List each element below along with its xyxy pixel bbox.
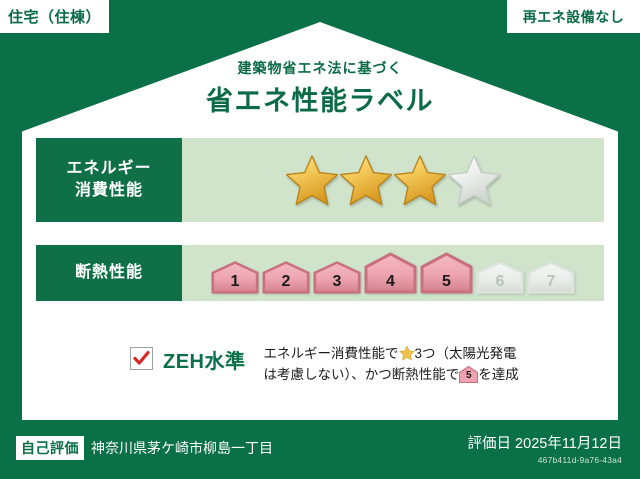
star-filled-icon: [340, 154, 392, 206]
footer-left-group: 自己評価 神奈川県茅ケ崎市柳島一丁目: [16, 436, 273, 460]
insulation-level-number: 7: [527, 273, 575, 291]
insulation-level-scale: 1234567: [211, 252, 575, 294]
row-energy-key-line1: エネルギー: [66, 158, 151, 180]
insulation-level-1: 1: [211, 261, 259, 294]
insulation-level-number: 3: [313, 273, 361, 291]
insulation-level-3: 3: [313, 261, 361, 294]
insulation-level-number: 2: [262, 273, 310, 291]
row-insulation-key: 断熱性能: [36, 245, 182, 301]
zeh-desc-part3: を達成: [478, 367, 519, 382]
zeh-section: ZEH水準 エネルギー消費性能で 3つ（太陽光発電 は考慮しない）、かつ断熱性能…: [130, 344, 519, 386]
row-insulation-value: 1234567: [182, 245, 604, 301]
inline-house-icon: 5: [459, 366, 478, 383]
insulation-level-6: 6: [476, 261, 524, 294]
star-rating: [286, 154, 500, 206]
insulation-level-number: 4: [364, 273, 417, 291]
insulation-level-number: 5: [420, 273, 473, 291]
star-filled-icon: [394, 154, 446, 206]
energy-performance-label: 住宅（住棟） 再エネ設備なし 建築物省エネ法に基づく 省エネ性能ラベル エネルギ…: [0, 0, 640, 479]
inline-star-icon: [399, 345, 415, 361]
badge-renewable-energy-label: 再エネ設備なし: [523, 7, 625, 27]
insulation-level-4: 4: [364, 252, 417, 294]
insulation-level-2: 2: [262, 261, 310, 294]
row-energy-consumption-key: エネルギー 消費性能: [36, 138, 182, 222]
zeh-desc-part1: エネルギー消費性能で: [264, 346, 399, 361]
footer-bar: 自己評価 神奈川県茅ケ崎市柳島一丁目 評価日 2025年11月12日 467b4…: [0, 422, 640, 479]
row-insulation-performance: 断熱性能 1234567: [36, 245, 604, 301]
row-energy-consumption: エネルギー 消費性能: [36, 138, 604, 222]
badge-building-type: 住宅（住棟）: [0, 0, 109, 33]
star-empty-icon: [448, 154, 500, 206]
row-insulation-key-line1: 断熱性能: [75, 262, 143, 284]
star-filled-icon: [286, 154, 338, 206]
inline-house-number: 5: [459, 369, 478, 383]
property-address: 神奈川県茅ケ崎市柳島一丁目: [91, 438, 273, 458]
row-energy-key-line2: 消費性能: [75, 180, 143, 202]
evaluation-date: 評価日 2025年11月12日: [468, 432, 622, 453]
zeh-desc-part2: は考慮しない）、かつ断熱性能で: [264, 367, 460, 382]
insulation-level-number: 1: [211, 273, 259, 291]
insulation-level-7: 7: [527, 261, 575, 294]
page-title: 省エネ性能ラベル: [0, 79, 640, 118]
footer-right-group: 評価日 2025年11月12日 467b411d-9a76-43a4: [468, 432, 622, 465]
check-icon: [132, 349, 151, 368]
evaluation-id: 467b411d-9a76-43a4: [468, 455, 622, 465]
title-subtitle: 建築物省エネ法に基づく: [0, 58, 640, 78]
zeh-description: エネルギー消費性能で 3つ（太陽光発電 は考慮しない）、かつ断熱性能で 5を達成: [264, 344, 519, 386]
insulation-level-5: 5: [420, 252, 473, 294]
zeh-label: ZEH水準: [163, 345, 246, 374]
self-evaluation-tag: 自己評価: [16, 436, 84, 460]
badge-renewable-energy: 再エネ設備なし: [507, 0, 640, 33]
badge-building-type-label: 住宅（住棟）: [8, 6, 101, 27]
insulation-level-number: 6: [476, 273, 524, 291]
zeh-desc-stars: 3つ（太陽光発電: [415, 346, 517, 361]
row-energy-consumption-value: [182, 138, 604, 222]
zeh-checkbox[interactable]: [130, 347, 153, 370]
